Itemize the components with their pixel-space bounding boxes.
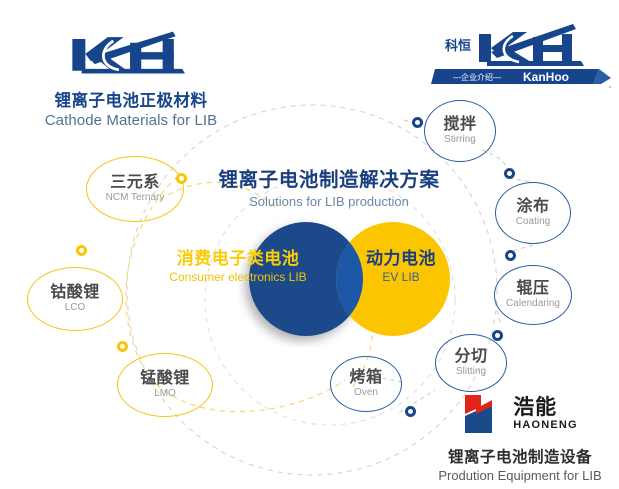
center-title: 锂离子电池制造解决方案 Solutions for LIB production (214, 163, 444, 209)
connector-dot-0 (176, 173, 187, 184)
haoneng-tagline-en: Prodution Equipment for LIB (425, 468, 615, 483)
connector-dot-3 (412, 117, 423, 128)
banner-cn-text: —企业介绍— (453, 72, 501, 82)
node-slitting[interactable]: 分切Slitting (435, 334, 507, 392)
node-label-en: Slitting (456, 366, 486, 377)
logo-kanhoo-right: 科恒 —企业介绍— KanHoo (431, 22, 611, 88)
node-label-cn: 烤箱 (349, 370, 382, 387)
node-label-en: LCO (65, 302, 86, 313)
haoneng-brand-en: HAONENG (513, 420, 578, 431)
logo-left-cn: 锂离子电池正极材料 (26, 87, 236, 111)
node-label-cn: 锰酸锂 (140, 371, 190, 388)
node-oven[interactable]: 烤箱Oven (330, 356, 402, 412)
center-title-cn: 锂离子电池制造解决方案 (214, 163, 444, 192)
connector-dot-2 (117, 341, 128, 352)
node-stirring[interactable]: 搅拌Stirring (424, 100, 496, 162)
node-lmo[interactable]: 锰酸锂LMO (117, 353, 213, 417)
connector-dot-6 (492, 330, 503, 341)
logo-haoneng: 浩能 HAONENG 锂离子电池制造设备 Prodution Equipment… (425, 392, 615, 483)
node-label-cn: 钴酸锂 (50, 285, 100, 302)
haoneng-tagline-cn: 锂离子电池制造设备 (425, 445, 615, 467)
logo-kanhoo-left: 锂离子电池正极材料 Cathode Materials for LIB (26, 26, 236, 129)
node-label-cn: 分切 (454, 349, 487, 366)
node-coating[interactable]: 涂布Coating (495, 182, 571, 244)
haoneng-brand-cn: 浩能 (513, 397, 578, 418)
venn-label-ev: 动力电池 EV LIB (346, 244, 456, 284)
venn-label-consumer: 消费电子类电池 Consumer electronics LIB (158, 244, 318, 284)
node-calendaring[interactable]: 辊压Calendaring (494, 265, 572, 325)
banner-en-text: KanHoo (523, 70, 569, 84)
slide-canvas: 锂离子电池正极材料 Cathode Materials for LIB 科恒 —… (0, 0, 619, 489)
haoneng-h-mark-icon (462, 392, 506, 436)
kanhoo-banner-icon: 科恒 —企业介绍— KanHoo (431, 22, 611, 88)
venn-label-consumer-en: Consumer electronics LIB (158, 270, 318, 284)
logo-left-en: Cathode Materials for LIB (26, 112, 236, 129)
connector-dot-4 (504, 168, 515, 179)
node-label-en: LMO (154, 388, 176, 399)
node-label-en: NCM Ternary (106, 192, 165, 203)
node-label-cn: 搅拌 (443, 117, 476, 134)
connector-dot-7 (405, 406, 416, 417)
node-label-cn: 涂布 (516, 199, 549, 216)
node-label-en: Oven (354, 387, 378, 398)
node-lco[interactable]: 钴酸锂LCO (27, 267, 123, 331)
connector-dot-5 (505, 250, 516, 261)
node-label-en: Calendaring (506, 298, 560, 309)
connector-dot-1 (76, 245, 87, 256)
node-label-cn: 三元系 (110, 175, 160, 192)
venn-label-ev-cn: 动力电池 (346, 244, 456, 269)
venn-label-ev-en: EV LIB (346, 270, 456, 284)
node-label-en: Stirring (444, 134, 476, 145)
node-label-en: Coating (516, 216, 550, 227)
kh-monogram-icon (26, 26, 236, 80)
venn-label-consumer-cn: 消费电子类电池 (158, 244, 318, 269)
svg-text:科恒: 科恒 (445, 38, 471, 53)
center-title-en: Solutions for LIB production (214, 194, 444, 209)
node-label-cn: 辊压 (516, 281, 549, 298)
node-ncm-ternary[interactable]: 三元系NCM Ternary (86, 156, 184, 222)
